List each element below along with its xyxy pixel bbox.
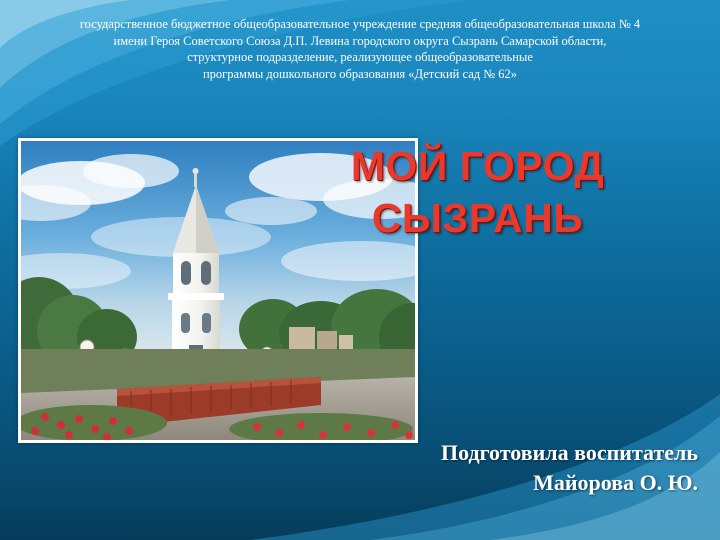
presentation-slide: государственное бюджетное общеобразовате… <box>0 0 720 540</box>
author-line-1: Подготовила воспитатель <box>441 438 698 468</box>
author-line-2: Майорова О. Ю. <box>441 468 698 498</box>
header-line-4: программы дошкольного образования «Детск… <box>18 66 702 83</box>
header-line-1: государственное бюджетное общеобразовате… <box>18 16 702 33</box>
header-line-2: имени Героя Советского Союза Д.П. Левина… <box>18 33 702 50</box>
title-line-1: МОЙ ГОРОД <box>250 140 705 192</box>
title-line-2: СЫЗРАНЬ <box>250 192 705 244</box>
institution-header: государственное бюджетное общеобразовате… <box>18 16 702 82</box>
header-line-3: структурное подразделение, реализующее о… <box>18 49 702 66</box>
author-credit: Подготовила воспитатель Майорова О. Ю. <box>441 438 698 498</box>
slide-title: МОЙ ГОРОД СЫЗРАНЬ <box>250 140 705 244</box>
